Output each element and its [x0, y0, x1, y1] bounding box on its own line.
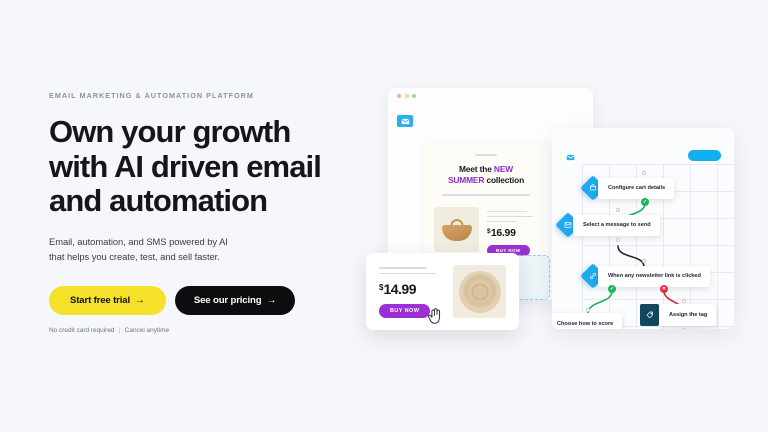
tag-icon[interactable]: [640, 304, 659, 326]
automation-workflow-window: Configure cart details ✓ Select a messag…: [552, 128, 734, 329]
node-port[interactable]: [642, 171, 646, 175]
envelope-icon: [397, 115, 413, 127]
status-error-icon: ✕: [660, 285, 668, 293]
arrow-right-icon: →: [135, 295, 145, 306]
product-price: $16.99: [487, 227, 538, 239]
straw-bag-image: [434, 207, 479, 252]
headline-line-1: Own your growth: [49, 115, 359, 150]
fineprint-separator: |: [119, 327, 121, 334]
node-port[interactable]: [642, 259, 646, 263]
promo-summer: SUMMER: [448, 175, 484, 185]
node-port[interactable]: [616, 208, 620, 212]
placeholder-line: [487, 216, 533, 218]
currency-symbol: $: [487, 228, 490, 235]
divider: [475, 154, 497, 156]
hero-copy-block: EMAIL MARKETING & AUTOMATION PLATFORM Ow…: [49, 90, 359, 334]
promo-headline: Meet the NEWSUMMER collection: [434, 164, 538, 187]
placeholder-line: [379, 267, 427, 269]
start-free-trial-button[interactable]: Start free trial →: [49, 286, 166, 315]
status-ok-icon: ✓: [641, 198, 649, 206]
toolbar-pill[interactable]: [688, 150, 721, 161]
node-port[interactable]: [586, 308, 590, 312]
workflow-node-select-message[interactable]: Select a message to send: [573, 215, 660, 236]
hand-cursor-icon: [426, 306, 445, 327]
floating-product-price: $14.99: [379, 281, 441, 297]
fineprint-cancel-anytime: Cancel anytime: [125, 327, 169, 334]
promo-new: NEW: [494, 164, 513, 174]
workflow-node-configure-cart[interactable]: Configure cart details: [598, 178, 674, 199]
node-port[interactable]: [682, 328, 686, 329]
straw-hat-image: [453, 265, 506, 318]
promo-part-1: Meet the: [459, 164, 494, 174]
headline-line-3: and automation: [49, 184, 359, 219]
bag-shape: [442, 219, 472, 241]
fineprint: No credit card required | Cancel anytime: [49, 327, 359, 334]
start-free-trial-label: Start free trial: [70, 295, 130, 306]
hero-illustration: Meet the NEWSUMMER collection $16.99: [380, 84, 740, 354]
promo-part-2: collection: [484, 175, 524, 185]
node-port[interactable]: [682, 299, 686, 303]
placeholder-line: [379, 273, 436, 275]
product-meta: $16.99 BUY NOW: [487, 207, 538, 258]
headline-line-2: with AI driven email: [49, 150, 359, 185]
hero-page: EMAIL MARKETING & AUTOMATION PLATFORM Ow…: [0, 0, 768, 432]
subcopy-line-2: that helps you create, test, and sell fa…: [49, 250, 359, 265]
product-row: $16.99 BUY NOW: [434, 207, 538, 258]
buy-now-button[interactable]: BUY NOW: [379, 304, 430, 318]
hat-shape: [459, 271, 501, 313]
close-dot-icon[interactable]: [397, 94, 401, 98]
eyebrow-label: EMAIL MARKETING & AUTOMATION PLATFORM: [49, 90, 359, 101]
placeholder-line: [487, 211, 527, 213]
cta-row: Start free trial → See our pricing →: [49, 286, 359, 315]
node-port[interactable]: [616, 238, 620, 242]
window-controls: [397, 94, 416, 98]
maximize-dot-icon[interactable]: [412, 94, 416, 98]
fineprint-no-credit-card: No credit card required: [49, 327, 114, 334]
bag-body: [442, 225, 472, 241]
see-our-pricing-button[interactable]: See our pricing →: [175, 286, 295, 315]
arrow-right-icon: →: [266, 295, 276, 306]
page-title: Own your growth with AI driven email and…: [49, 115, 359, 219]
placeholder-line: [487, 221, 517, 223]
minimize-dot-icon[interactable]: [405, 94, 409, 98]
status-ok-icon: ✓: [608, 285, 616, 293]
workflow-node-assign-tag[interactable]: Assign the tag: [659, 304, 716, 326]
price-value: 14.99: [383, 281, 416, 297]
price-value: 16.99: [491, 227, 516, 239]
see-our-pricing-label: See our pricing: [194, 295, 262, 306]
window-titlebar: [388, 88, 593, 103]
hero-subcopy: Email, automation, and SMS powered by AI…: [49, 235, 359, 264]
envelope-icon: [562, 151, 578, 163]
subcopy-line-1: Email, automation, and SMS powered by AI: [49, 235, 359, 250]
divider: [442, 194, 530, 195]
workflow-node-newsletter-clicked[interactable]: When any newsletter link is clicked: [598, 266, 710, 287]
workflow-node-choose-score[interactable]: Choose how to score: [552, 313, 622, 329]
